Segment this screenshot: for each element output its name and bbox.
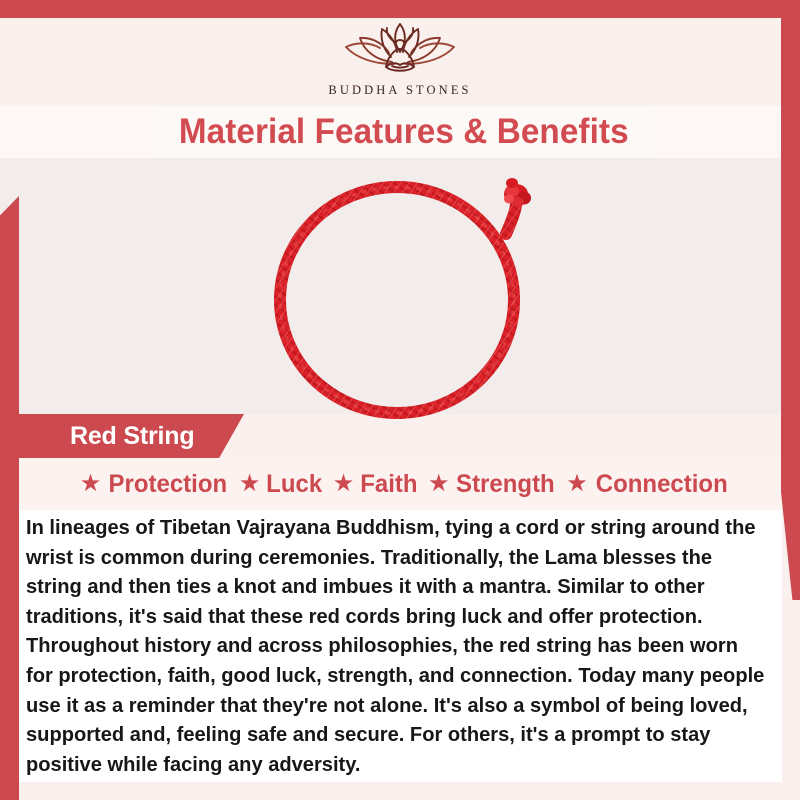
star-icon: ★ <box>566 472 588 496</box>
material-label: Red String <box>70 422 194 451</box>
benefit-item-luck: ★ Luck <box>230 470 324 499</box>
frame-top-bar <box>0 0 800 18</box>
star-icon: ★ <box>428 472 450 496</box>
lotus-meditation-icon <box>334 20 466 82</box>
material-banner: Red String <box>18 414 244 458</box>
description-text: In lineages of Tibetan Vajrayana Buddhis… <box>26 514 767 780</box>
page-title: Material Features & Benefits <box>179 112 629 152</box>
star-icon: ★ <box>239 472 261 496</box>
benefit-item-faith: ★ Faith <box>324 470 419 499</box>
frame-right-bar <box>781 0 800 600</box>
benefit-label: Connection <box>596 470 728 499</box>
red-braided-string-bracelet-icon <box>250 172 550 422</box>
infographic-page: BUDDHA STONES Material Features & Benefi… <box>0 0 800 800</box>
frame-left-bar <box>0 196 19 800</box>
benefit-item-connection: ★ Connection <box>557 470 730 499</box>
star-icon: ★ <box>333 472 355 496</box>
product-image <box>250 172 550 422</box>
brand-header: BUDDHA STONES <box>0 18 800 106</box>
benefit-label: Luck <box>267 470 323 499</box>
brand-name: BUDDHA STONES <box>328 83 471 98</box>
benefits-list: ★ Protection ★ Luck ★ Faith ★ Strength ★… <box>19 458 782 510</box>
benefit-item-strength: ★ Strength <box>419 470 557 499</box>
bottom-background-strip <box>0 782 800 800</box>
star-icon: ★ <box>80 472 102 496</box>
benefit-label: Strength <box>457 470 556 499</box>
title-container: Material Features & Benefits <box>154 106 654 158</box>
benefit-label: Protection <box>109 470 228 499</box>
description-panel: In lineages of Tibetan Vajrayana Buddhis… <box>19 510 782 782</box>
benefit-item-protection: ★ Protection <box>71 470 230 499</box>
benefit-label: Faith <box>360 470 417 499</box>
